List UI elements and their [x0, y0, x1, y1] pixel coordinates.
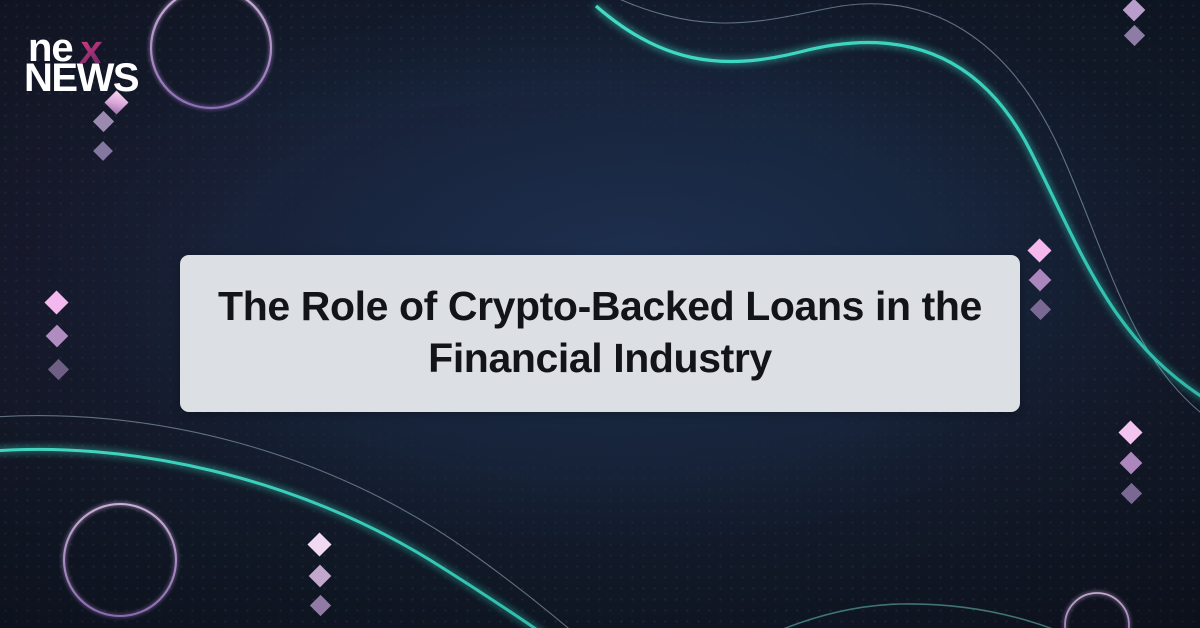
- title-card: The Role of Crypto-Backed Loans in the F…: [180, 255, 1020, 412]
- logo-text-news: NEWS: [24, 58, 138, 98]
- news-banner: ne x NEWS The Role of Crypto-Backed Loan…: [0, 0, 1200, 628]
- nexnews-logo[interactable]: ne x NEWS: [24, 28, 132, 112]
- page-title: The Role of Crypto-Backed Loans in the F…: [210, 281, 990, 384]
